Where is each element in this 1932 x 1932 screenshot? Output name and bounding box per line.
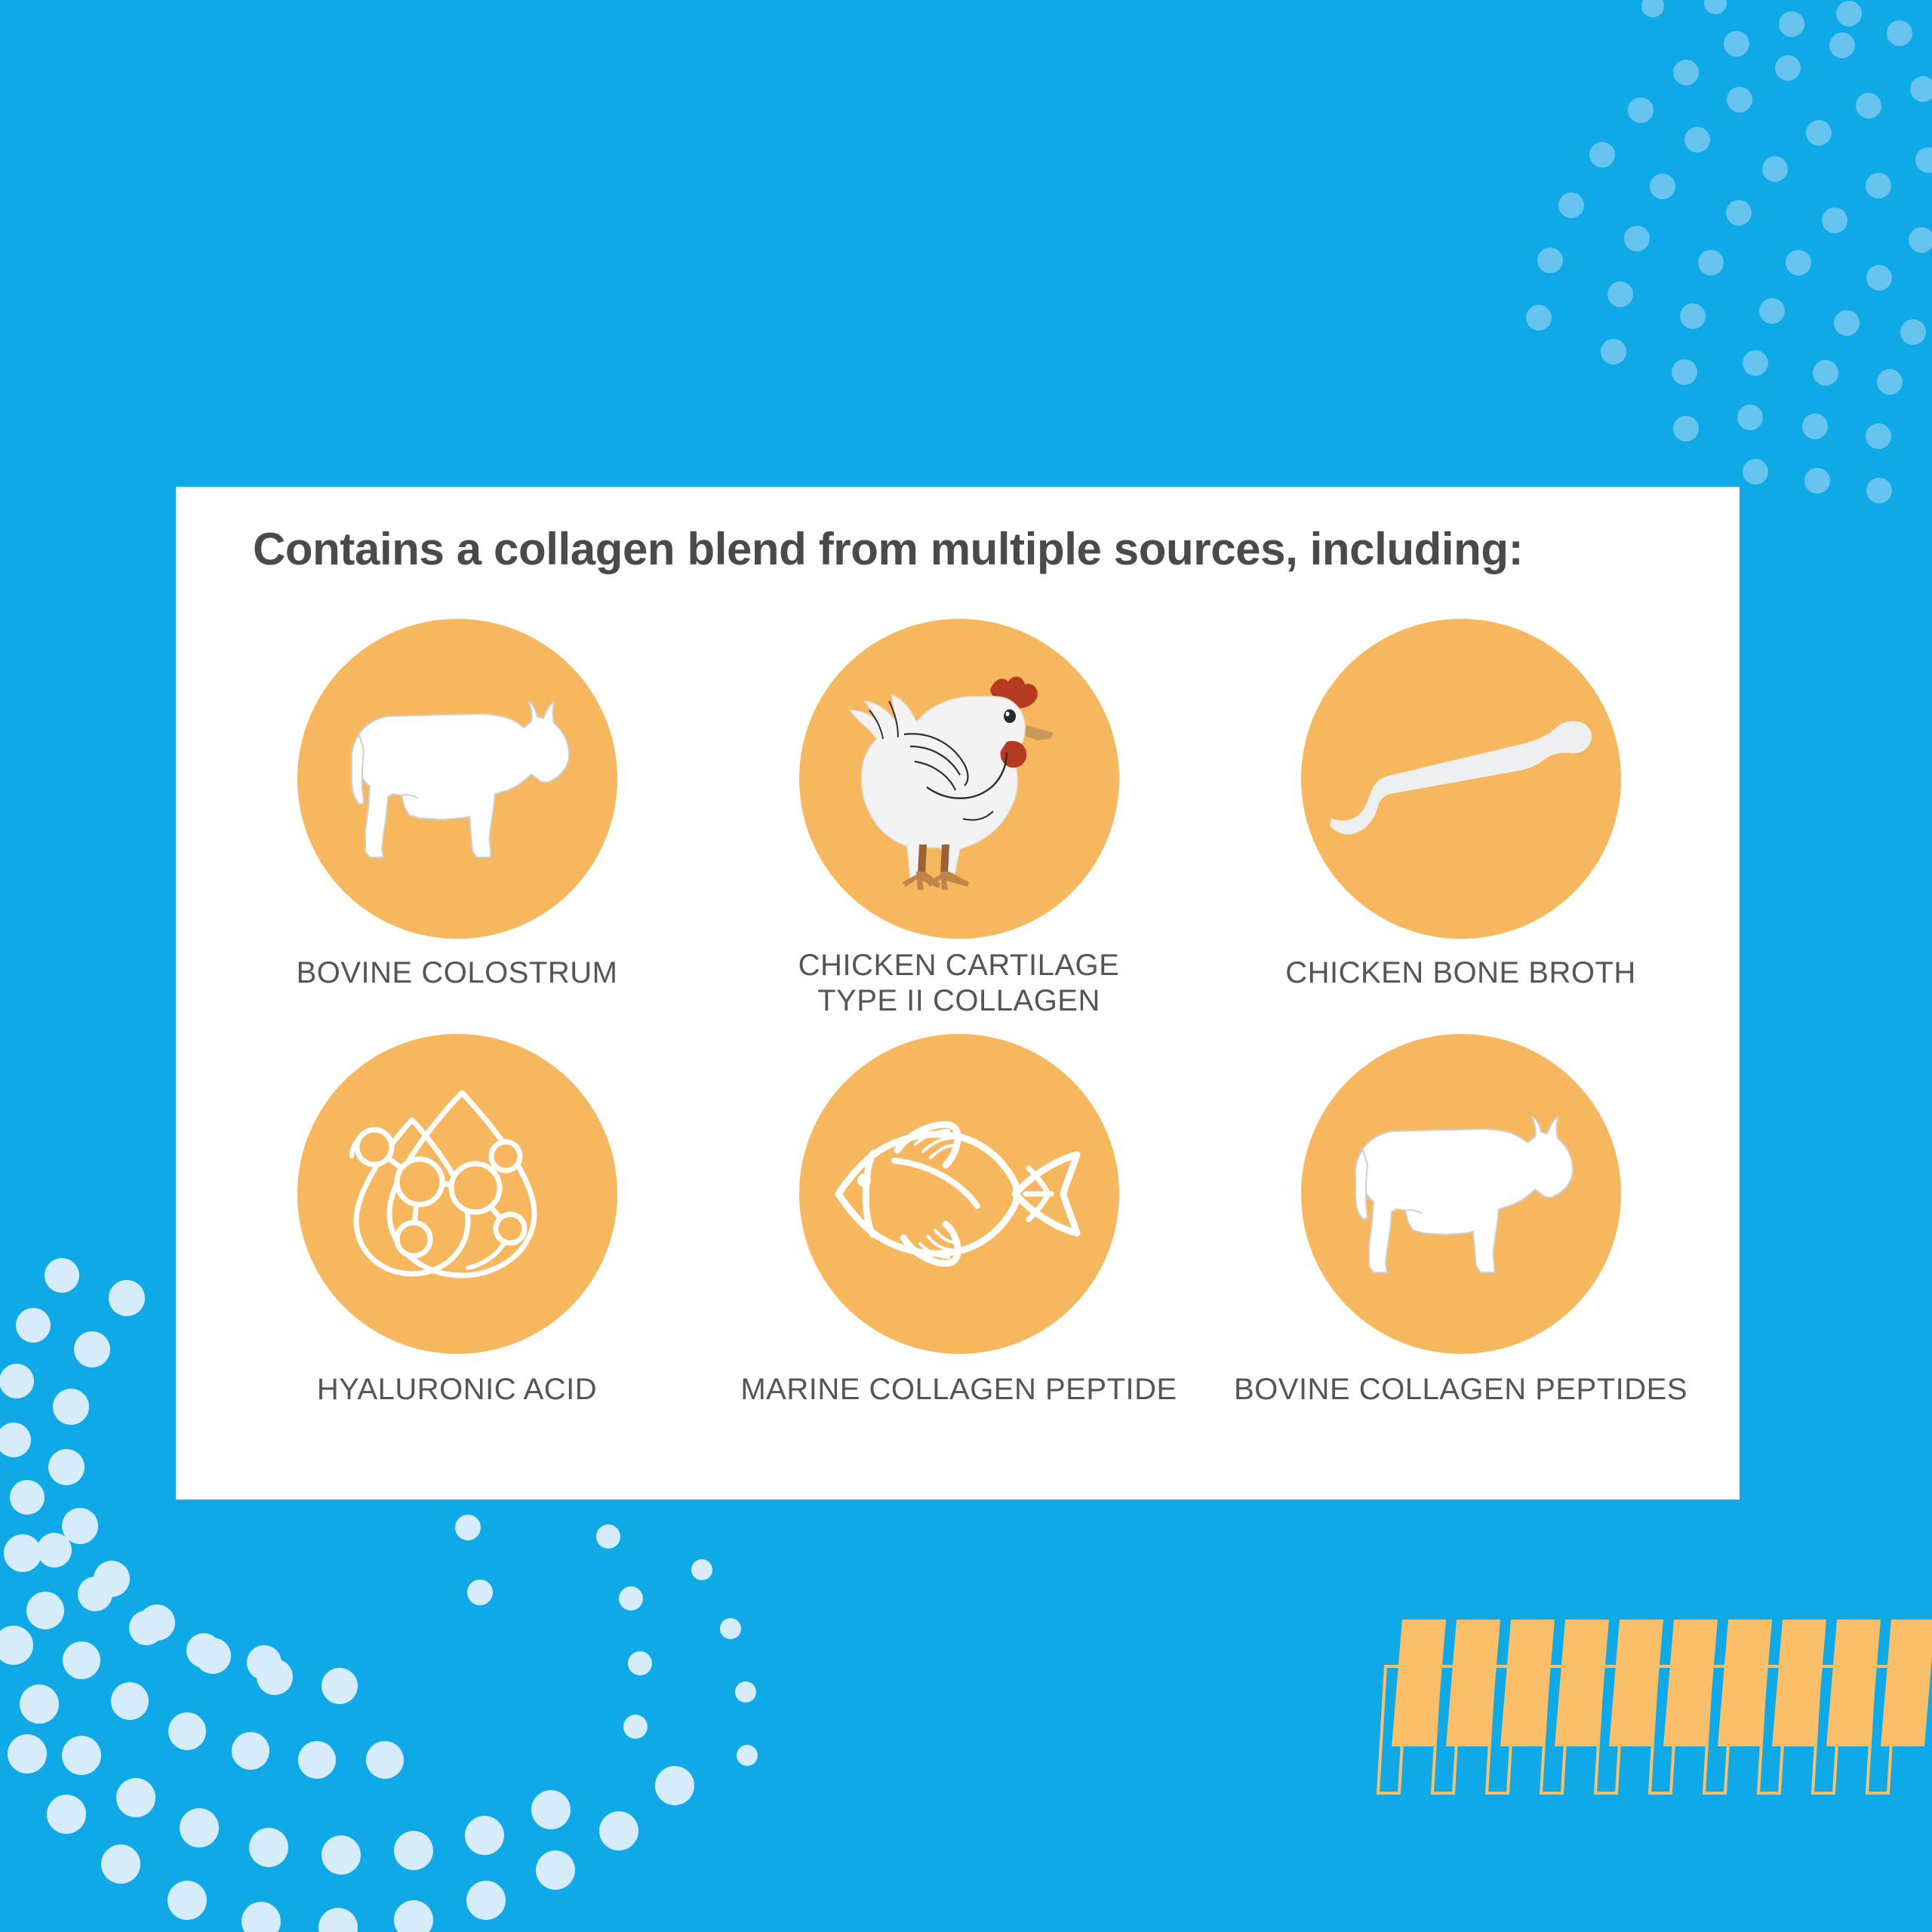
icon-circle-bovine-collagen-peptides	[1301, 1034, 1621, 1354]
source-item-chicken-cartilage[interactable]: CHICKEN CARTILAGE TYPE II COLLAGEN	[708, 619, 1210, 1019]
source-item-marine-collagen-peptide[interactable]: MARINE COLLAGEN PEPTIDE	[708, 1034, 1210, 1407]
icon-circle-bovine-colostrum	[297, 619, 617, 939]
source-item-bovine-collagen-peptides[interactable]: BOVINE COLLAGEN PEPTIDES	[1210, 1034, 1712, 1407]
source-label-marine-collagen-peptide: MARINE COLLAGEN PEPTIDE	[740, 1372, 1177, 1407]
source-item-bovine-colostrum[interactable]: BOVINE COLOSTRUM	[206, 619, 708, 1019]
source-label-hyaluronic-acid: HYALURONIC ACID	[317, 1372, 597, 1407]
bone-icon	[1325, 703, 1597, 854]
page-title: Contains a collagen blend from multiple …	[253, 523, 1687, 575]
sources-grid: BOVINE COLOSTRUM	[206, 619, 1712, 1408]
cow-icon	[329, 681, 586, 877]
source-label-chicken-bone-broth: CHICKEN BONE BROTH	[1285, 955, 1636, 991]
chicken-icon	[835, 654, 1084, 903]
source-item-hyaluronic-acid[interactable]: HYALURONIC ACID	[206, 1034, 708, 1407]
icon-circle-hyaluronic-acid	[297, 1034, 617, 1354]
fish-icon	[831, 1111, 1088, 1277]
source-label-bovine-colostrum: BOVINE COLOSTRUM	[297, 955, 618, 991]
icon-circle-chicken-cartilage	[799, 619, 1119, 939]
icon-circle-marine-collagen-peptide	[799, 1034, 1119, 1354]
collagen-sources-card: Contains a collagen blend from multiple …	[176, 487, 1740, 1500]
source-item-chicken-bone-broth[interactable]: CHICKEN BONE BROTH	[1210, 619, 1712, 1019]
water-droplet-molecule-icon	[344, 1081, 571, 1307]
cow-icon	[1333, 1096, 1589, 1292]
decorative-dots-top-right	[1328, 0, 1932, 528]
decorative-bars-bottom-right	[1374, 1607, 1932, 1804]
source-label-chicken-cartilage: CHICKEN CARTILAGE TYPE II COLLAGEN	[798, 948, 1120, 1019]
source-label-bovine-collagen-peptides: BOVINE COLLAGEN PEPTIDES	[1234, 1372, 1687, 1407]
icon-circle-chicken-bone-broth	[1301, 619, 1621, 939]
